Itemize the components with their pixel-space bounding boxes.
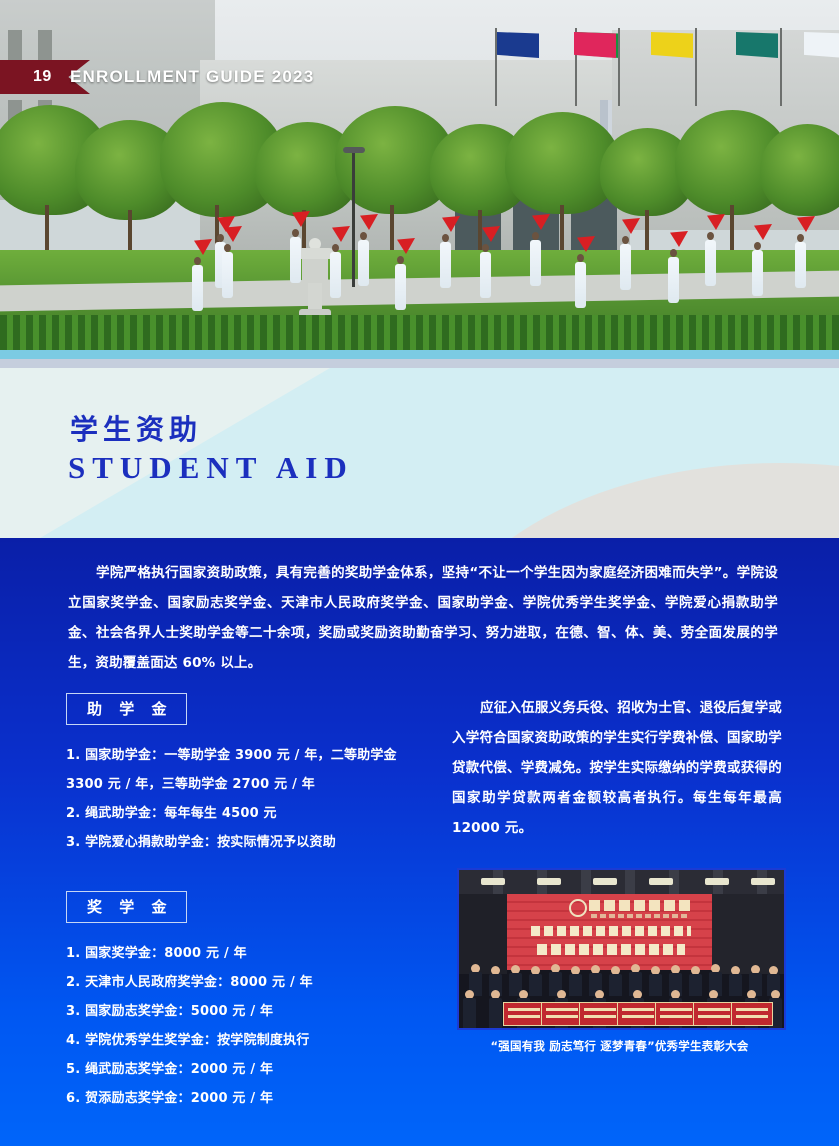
list-item: 3. 国家励志奖学金：5000 元 / 年: [66, 997, 406, 1026]
content-body: 学院严格执行国家资助政策，具有完善的奖助学金体系，坚持“不让一个学生因为家庭经济…: [0, 538, 839, 1146]
page-number: 19: [33, 68, 52, 86]
brochure-page: 19 ENROLLMENT GUIDE 2023 学生资助 STUDENT AI…: [0, 0, 839, 1146]
hero-hedge: [0, 315, 839, 350]
list-item: 3. 学院爱心捐款助学金：按实际情况予以资助: [66, 828, 406, 857]
divider-band-cyan: [0, 350, 839, 359]
photo-red-banner: [507, 894, 712, 970]
intro-paragraph: 学院严格执行国家资助政策，具有完善的奖助学金体系，坚持“不让一个学生因为家庭经济…: [68, 558, 778, 678]
list-item: 6. 贺添励志奖学金：2000 元 / 年: [66, 1084, 406, 1113]
list-item: 5. 绳武励志奖学金：2000 元 / 年: [66, 1055, 406, 1084]
hero-streetlamp: [352, 152, 355, 287]
college-emblem-icon: [569, 899, 587, 917]
page-title-en: STUDENT AID: [68, 450, 354, 486]
scholarship-section-heading: 奖 学 金: [66, 891, 187, 923]
photo-ceiling: [459, 870, 784, 896]
list-item: 1. 国家助学金：一等助学金 3900 元 / 年，二等助学金 3300 元 /…: [66, 741, 406, 799]
hero-photo: [0, 0, 839, 350]
list-item: 2. 天津市人民政府奖学金：8000 元 / 年: [66, 968, 406, 997]
grant-section-heading: 助 学 金: [66, 693, 187, 725]
photo-front-row: [459, 988, 784, 1028]
divider-band-gray: [0, 359, 839, 368]
left-column: 助 学 金 1. 国家助学金：一等助学金 3900 元 / 年，二等助学金 33…: [66, 693, 406, 1113]
ceremony-photo: [457, 868, 786, 1030]
military-service-paragraph: 应征入伍服义务兵役、招收为士官、退役后复学或入学符合国家资助政策的学生实行学费补…: [452, 693, 782, 843]
right-column: 应征入伍服义务兵役、招收为士官、退役后复学或入学符合国家资助政策的学生实行学费补…: [452, 693, 782, 843]
list-item: 2. 绳武助学金：每年每生 4500 元: [66, 799, 406, 828]
photo-caption: “强国有我 励志笃行 逐梦青春”优秀学生表彰大会: [452, 1038, 787, 1054]
guide-title: ENROLLMENT GUIDE 2023: [70, 60, 314, 94]
column-spacer: [66, 857, 406, 891]
page-title-cn: 学生资助: [70, 408, 202, 448]
grant-list: 1. 国家助学金：一等助学金 3900 元 / 年，二等助学金 3300 元 /…: [66, 741, 406, 857]
list-item: 1. 国家奖学金：8000 元 / 年: [66, 939, 406, 968]
hero-flag-row: [400, 28, 839, 108]
list-item: 4. 学院优秀学生奖学金：按学院制度执行: [66, 1026, 406, 1055]
scholarship-list: 1. 国家奖学金：8000 元 / 年 2. 天津市人民政府奖学金：8000 元…: [66, 939, 406, 1113]
